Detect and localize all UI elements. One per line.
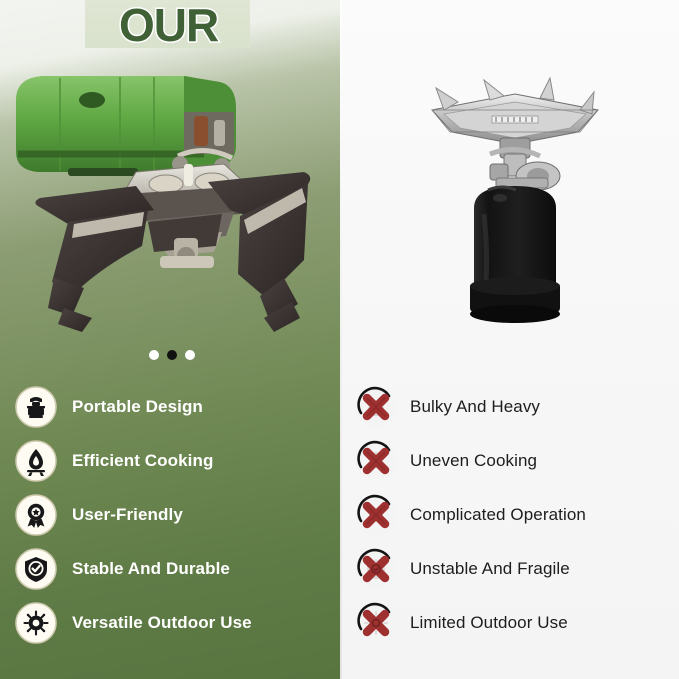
award-ribbon-icon [14,493,58,537]
feature-label: Efficient Cooking [72,451,213,471]
feature-row-complicated-operation: Complicated Operation [340,488,679,542]
our-carousel-dots[interactable] [149,350,195,360]
column-divider [340,0,342,679]
carousel-dot-1[interactable] [149,350,159,360]
feature-row-efficient-cooking: Efficient Cooking [0,434,340,488]
our-feature-list: Portable Design Efficient Cooking [0,380,340,650]
feature-label: Limited Outdoor Use [410,613,568,633]
portable-stove-icon [14,385,58,429]
carousel-dot-2-active[interactable] [167,350,177,360]
comparison-infographic: OUR [0,0,679,679]
our-product-image [8,60,330,332]
feature-row-unstable-and-fragile: Unstable And Fragile [340,542,679,596]
cross-out-weight-icon [354,385,398,429]
feature-row-limited-outdoor-use: Limited Outdoor Use [340,596,679,650]
feature-label: Unstable And Fragile [410,559,570,579]
feature-label: Stable And Durable [72,559,230,579]
feature-row-user-friendly: User-Friendly [0,488,340,542]
feature-label: Bulky And Heavy [410,397,540,417]
feature-row-uneven-cooking: Uneven Cooking [340,434,679,488]
other-product-image [404,58,626,336]
flame-burner-icon [14,439,58,483]
feature-label: Complicated Operation [410,505,586,525]
feature-label: Versatile Outdoor Use [72,613,252,633]
feature-label: User-Friendly [72,505,183,525]
feature-row-bulky-and-heavy: Bulky And Heavy [340,380,679,434]
feature-row-versatile-outdoor-use: Versatile Outdoor Use [0,596,340,650]
cross-out-sun-icon [354,601,398,645]
other-product-column: OTHER [340,0,679,679]
feature-label: Uneven Cooking [410,451,537,471]
our-header: OUR [0,0,340,62]
other-header: OTHER [340,0,679,62]
feature-row-portable-design: Portable Design [0,380,340,434]
cross-out-flame-icon [354,439,398,483]
carousel-dot-3[interactable] [185,350,195,360]
feature-label: Portable Design [72,397,203,417]
shield-check-icon [14,547,58,591]
cross-out-shield-icon [354,547,398,591]
gear-sun-icon [14,601,58,645]
feature-row-stable-and-durable: Stable And Durable [0,542,340,596]
our-title: OUR [119,2,218,48]
cross-out-gear-icon [354,493,398,537]
our-product-column: OUR [0,0,340,679]
other-feature-list: Bulky And Heavy Uneven Cooking [340,380,679,650]
